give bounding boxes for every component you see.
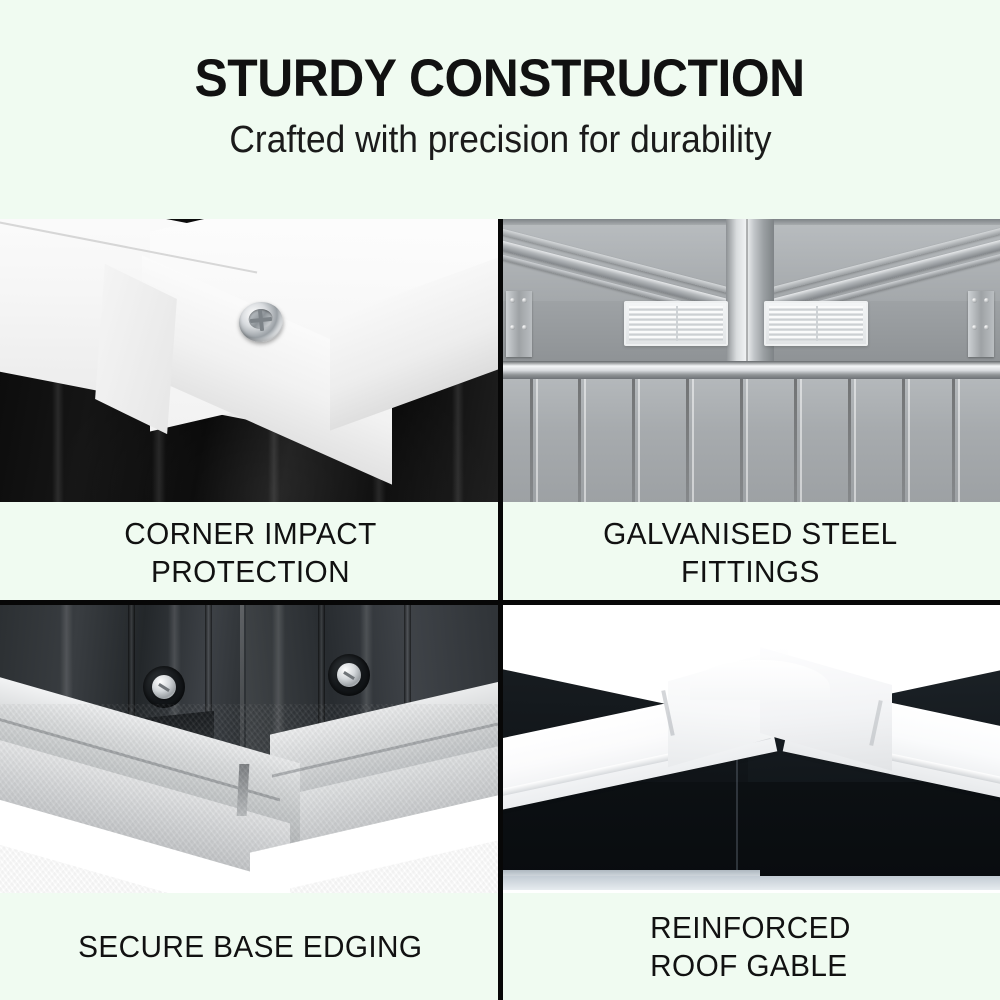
caption-line-2: FITTINGS: [681, 554, 820, 589]
grid-divider-vertical: [498, 219, 503, 1000]
caption-line-1: SECURE BASE EDGING: [78, 928, 422, 966]
wall-groove: [848, 379, 851, 502]
screw-cross-slot-icon: [247, 306, 276, 335]
horizontal-support-beam: [500, 361, 1000, 379]
wall-groove: [578, 379, 581, 502]
caption-line-1: GALVANISED STEEL: [603, 516, 897, 551]
wall-groove: [530, 379, 533, 502]
wall-groove: [794, 379, 797, 502]
feature-caption-corner-impact-protection: CORNER IMPACT PROTECTION: [0, 502, 500, 604]
feature-caption-reinforced-roof-gable: REINFORCED ROOF GABLE: [500, 893, 1000, 1000]
secure-base-edging-image: [0, 604, 500, 893]
wall-highlight: [746, 379, 748, 502]
feature-card-galvanised-steel-fittings[interactable]: GALVANISED STEEL FITTINGS: [500, 219, 1000, 604]
louvered-vent-right: [764, 301, 868, 346]
feature-card-corner-impact-protection[interactable]: CORNER IMPACT PROTECTION: [0, 219, 500, 604]
feature-caption-galvanised-steel-fittings: GALVANISED STEEL FITTINGS: [500, 502, 1000, 604]
caption-line-1: CORNER IMPACT: [124, 516, 376, 551]
wall-groove: [740, 379, 743, 502]
grid-divider-horizontal: [0, 600, 1000, 605]
caption-line-2: ROOF GABLE: [650, 948, 847, 983]
header: STURDY CONSTRUCTION Crafted with precisi…: [0, 0, 1000, 219]
base-trim: [500, 876, 1000, 890]
steel-bracket-left: [506, 291, 532, 357]
wall-highlight: [584, 379, 586, 502]
steel-bracket-right: [968, 291, 994, 357]
feature-caption-secure-base-edging: SECURE BASE EDGING: [0, 893, 500, 1000]
caption-line-2: PROTECTION: [151, 554, 350, 589]
galvanised-steel-fittings-image: [500, 219, 1000, 502]
wall-highlight: [638, 379, 640, 502]
wall-highlight: [958, 379, 960, 502]
wall-highlight: [536, 379, 538, 502]
wall-groove: [632, 379, 635, 502]
feature-card-reinforced-roof-gable[interactable]: REINFORCED ROOF GABLE: [500, 604, 1000, 1000]
feature-card-secure-base-edging[interactable]: SECURE BASE EDGING: [0, 604, 500, 1000]
promo-panel: STURDY CONSTRUCTION Crafted with precisi…: [0, 0, 1000, 1000]
photo-backdrop: [500, 890, 1000, 893]
wall-highlight: [800, 379, 802, 502]
page-title: STURDY CONSTRUCTION: [195, 52, 805, 105]
wall-groove: [952, 379, 955, 502]
wall-highlight: [692, 379, 694, 502]
corner-impact-protection-image: [0, 219, 500, 502]
caption-line-1: REINFORCED: [650, 910, 851, 945]
page-subtitle: Crafted with precision for durability: [229, 121, 771, 159]
gable-face-fill: [500, 782, 1000, 882]
wall-groove: [902, 379, 905, 502]
louvered-vent-left: [624, 301, 728, 346]
reinforced-roof-gable-image: [500, 604, 1000, 893]
corrugated-wall: [500, 379, 1000, 502]
wall-highlight: [854, 379, 856, 502]
wall-groove: [686, 379, 689, 502]
wall-highlight: [908, 379, 910, 502]
